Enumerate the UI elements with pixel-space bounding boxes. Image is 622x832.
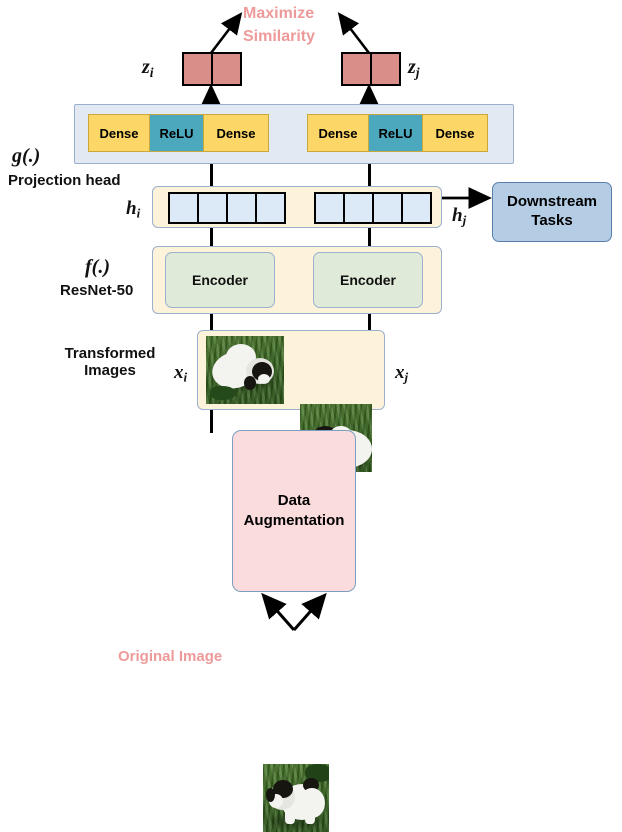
encoder-right: Encoder	[313, 252, 423, 308]
z-j-vector	[341, 52, 401, 86]
foliage	[210, 386, 236, 400]
z-i-vector	[182, 52, 242, 86]
z-j-cell	[370, 54, 399, 84]
h-i-symbol: h	[126, 198, 137, 219]
z-j-cell	[343, 54, 370, 84]
z-i-symbol: z	[142, 56, 150, 78]
objective-label: Maximize Similarity	[243, 2, 315, 48]
h-i-vector	[168, 192, 286, 224]
arrow-original-to-augmentation-left	[264, 596, 294, 630]
projection-head-caption: Projection head	[8, 172, 121, 189]
z-i-cell	[184, 54, 211, 84]
z-j-symbol: z	[408, 56, 416, 78]
transformed-image-left	[206, 336, 284, 404]
data-augmentation-box: Data Augmentation	[232, 430, 356, 592]
arrow-zi-to-objective	[211, 15, 240, 53]
dog-leg	[305, 808, 315, 824]
h-j-subscript: j	[463, 213, 467, 228]
x-j-symbol: x	[395, 362, 405, 383]
encoder-left: Encoder	[165, 252, 275, 308]
downstream-line-2: Tasks	[531, 212, 572, 231]
z-i-label: zi	[142, 56, 154, 81]
arrow-zj-to-objective	[340, 15, 369, 53]
h-j-cell	[343, 194, 372, 222]
original-image	[263, 764, 329, 832]
objective-line-2: Similarity	[243, 25, 315, 48]
downstream-line-1: Downstream	[507, 193, 597, 212]
h-i-subscript: i	[137, 206, 141, 221]
h-i-label: hi	[126, 198, 140, 222]
x-i-label: xi	[174, 362, 187, 386]
x-i-symbol: x	[174, 362, 184, 383]
dog-ear	[244, 376, 256, 390]
z-j-label: zj	[408, 56, 420, 81]
dense-block: Dense	[203, 115, 268, 151]
augmentation-line-2: Augmentation	[244, 511, 345, 531]
projection-head-right-stack: Dense ReLU Dense	[307, 114, 488, 152]
h-j-vector	[314, 192, 432, 224]
arrow-original-to-augmentation-right	[294, 596, 324, 630]
h-i-cell	[170, 194, 197, 222]
transformed-caption-line-1: Transformed	[48, 345, 172, 362]
downstream-tasks-box[interactable]: Downstream Tasks	[492, 182, 612, 242]
relu-block: ReLU	[149, 115, 203, 151]
original-image-caption: Original Image	[118, 648, 222, 665]
h-i-cell	[197, 194, 226, 222]
h-j-cell	[401, 194, 430, 222]
x-i-subscript: i	[184, 370, 188, 385]
h-i-cell	[226, 194, 255, 222]
objective-line-1: Maximize	[243, 2, 315, 25]
augmentation-line-1: Data	[278, 491, 311, 511]
encoder-function-symbol: f(.)	[85, 256, 110, 279]
transformed-images-caption: Transformed Images	[48, 345, 172, 380]
dog-muzzle	[258, 374, 270, 384]
z-i-cell	[211, 54, 240, 84]
h-j-cell	[372, 194, 401, 222]
h-j-symbol: h	[452, 205, 463, 226]
dense-block: Dense	[89, 115, 149, 151]
x-j-label: xj	[395, 362, 408, 386]
transformed-caption-line-2: Images	[48, 362, 172, 379]
dog-ear	[266, 788, 275, 802]
z-i-subscript: i	[150, 65, 154, 80]
encoder-name-caption: ResNet-50	[60, 282, 133, 299]
diagram-canvas: Maximize Similarity zi zj Dense ReLU Den…	[0, 0, 622, 701]
h-j-cell	[316, 194, 343, 222]
h-j-label: hj	[452, 205, 466, 229]
projection-head-left-stack: Dense ReLU Dense	[88, 114, 269, 152]
relu-block: ReLU	[368, 115, 422, 151]
dense-block: Dense	[308, 115, 368, 151]
projection-function-symbol: g(.)	[12, 145, 40, 168]
x-j-subscript: j	[405, 370, 409, 385]
z-j-subscript: j	[416, 65, 420, 80]
dog-leg	[285, 808, 295, 824]
dense-block: Dense	[422, 115, 487, 151]
h-i-cell	[255, 194, 284, 222]
